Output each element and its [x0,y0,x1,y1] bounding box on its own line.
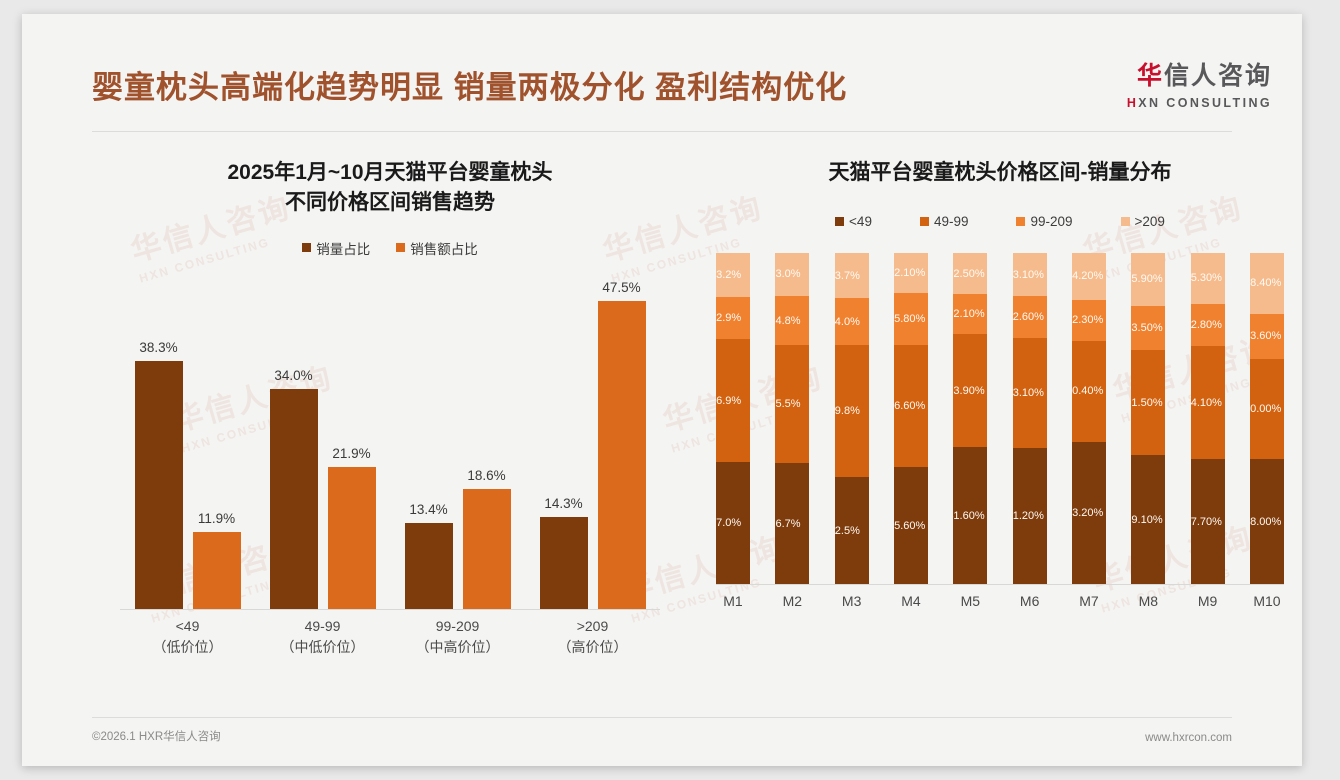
bar-value-label: 34.0% [274,368,312,383]
segment-value-label: 12.10% [895,267,925,279]
segment-value-label: 38.00% [1251,516,1281,528]
bar-group: 34.0%21.9% [258,272,388,610]
stacked-bar-segment[interactable]: 37.70% [1191,459,1225,584]
x-axis-category-sublabel: （中低价位） [258,637,388,658]
segment-value-label: 36.7% [776,518,800,530]
stacked-bar-column[interactable]: 13.10%12.60%33.10%41.20% [1013,253,1047,585]
segment-value-label: 32.5% [836,525,860,537]
segment-value-label: 31.50% [1132,397,1162,409]
slide-canvas: 华信人咨询HXN CONSULTING 华信人咨询HXN CONSULTING … [22,14,1302,766]
segment-value-label: 35.5% [776,398,800,410]
stacked-bar-segment[interactable]: 14.0% [835,298,869,344]
bar-rect[interactable] [270,389,318,610]
segment-value-label: 41.60% [954,510,984,522]
segment-value-label: 12.10% [954,308,984,320]
x-axis-month-label: M1 [716,585,750,637]
stacked-bar-segment[interactable]: 39.8% [835,345,869,477]
stacked-bar-segment[interactable]: 13.7% [835,253,869,298]
segment-value-label: 39.8% [836,405,860,417]
segment-value-label: 37.70% [1192,516,1222,528]
segment-value-label: 14.8% [776,315,800,327]
left-chart-legend: 销量占比销售额占比 [80,238,700,258]
stacked-bar-column[interactable]: 13.0%14.8%35.5%36.7% [775,253,809,585]
grouped-bar-chart: 38.3%11.9%34.0%21.9%13.4%18.6%14.3%47.5%… [110,272,670,662]
stacked-bar-segment[interactable]: 14.20% [1072,253,1106,300]
x-axis-category-label: >209（高价位） [528,610,658,662]
stacked-bar-column[interactable]: 12.50%12.10%33.90%41.60% [953,253,987,585]
x-axis-category-name: 49-99 [258,616,388,637]
bar-rect[interactable] [598,301,646,610]
stacked-bar-column[interactable]: 12.10%15.80%36.60%35.60% [894,253,928,585]
bar-column[interactable]: 14.3% [540,272,588,610]
left-chart-panel: 2025年1月~10月天猫平台婴童枕头 不同价格区间销售趋势 销量占比销售额占比… [80,144,700,704]
stacked-bar-segment[interactable]: 30.40% [1072,341,1106,442]
bar-column[interactable]: 47.5% [598,272,646,610]
stacked-bar-segment[interactable]: 33.90% [953,334,987,446]
page-title: 婴童枕头高端化趋势明显 销量两极分化 盈利结构优化 [92,62,847,107]
x-axis-month-label: M2 [775,585,809,637]
left-chart-title-line1: 2025年1月~10月天猫平台婴童枕头 [80,158,700,188]
segment-value-label: 39.10% [1132,514,1162,526]
legend-label: <49 [849,214,872,229]
bar-column[interactable]: 34.0% [270,272,318,610]
bar-value-label: 13.4% [409,502,447,517]
bar-value-label: 18.6% [467,468,505,483]
right-chart-title: 天猫平台婴童枕头价格区间-销量分布 [700,144,1300,188]
bar-column[interactable]: 18.6% [463,272,511,610]
bar-value-label: 47.5% [602,280,640,295]
stacked-bar-segment[interactable]: 36.60% [894,345,928,466]
stacked-bar-segment[interactable]: 12.9% [716,297,750,340]
segment-value-label: 37.0% [717,517,741,529]
stacked-bar-segment[interactable]: 35.60% [894,467,928,585]
segment-value-label: 35.60% [895,520,925,532]
segment-value-label: 13.50% [1132,322,1162,334]
footer-divider [92,717,1232,718]
segment-value-label: 33.90% [954,385,984,397]
legend-label: >209 [1135,214,1165,229]
segment-value-label: 15.80% [895,313,925,325]
segment-value-label: 13.7% [836,270,860,282]
legend-label: 49-99 [934,214,969,229]
stacked-bar-chart: 13.2%12.9%36.9%37.0%13.0%14.8%35.5%36.7%… [710,247,1290,637]
segment-value-label: 12.60% [1014,311,1044,323]
x-axis-category-sublabel: （低价位） [123,637,253,658]
stacked-bar-segment[interactable]: 12.80% [1191,304,1225,346]
stacked-bar-segment[interactable]: 43.20% [1072,442,1106,585]
bar-rect[interactable] [463,489,511,610]
stacked-bar-segment[interactable]: 15.80% [894,293,928,345]
segment-value-label: 14.20% [1073,270,1103,282]
stacked-bar-segment[interactable]: 34.10% [1191,346,1225,459]
stacked-bar-segment[interactable]: 35.5% [775,345,809,463]
stacked-bar-column[interactable]: 13.7%14.0%39.8%32.5% [835,253,869,585]
stacked-bar-column[interactable]: 14.20%12.30%30.40%43.20% [1072,253,1106,585]
segment-value-label: 12.30% [1073,314,1103,326]
left-chart-title-line2: 不同价格区间销售趋势 [80,188,700,218]
right-chart-legend: <4949-9999-209>209 [700,214,1300,229]
stacked-bar-segment[interactable]: 32.5% [835,477,869,585]
stacked-bar-segment[interactable]: 13.50% [1131,306,1165,351]
bar-value-label: 38.3% [139,340,177,355]
stacked-bar-segment[interactable]: 12.10% [953,294,987,334]
stacked-bar-segment[interactable]: 13.60% [1250,314,1284,359]
stacked-bar-segment[interactable]: 18.40% [1250,253,1284,314]
right-chart-plot-area: 13.2%12.9%36.9%37.0%13.0%14.8%35.5%36.7%… [716,253,1284,585]
x-axis-month-label: M5 [953,585,987,637]
stacked-bar-segment[interactable]: 13.10% [1013,253,1047,296]
bar-rect[interactable] [328,467,376,609]
bar-column[interactable]: 13.4% [405,272,453,610]
legend-swatch-icon [1121,217,1130,226]
segment-value-label: 13.2% [717,269,741,281]
bar-rect[interactable] [540,517,588,610]
right-chart-legend-item[interactable]: <49 [835,214,872,229]
stacked-bar-segment[interactable]: 12.10% [894,253,928,293]
segment-value-label: 36.60% [895,400,925,412]
segment-value-label: 12.9% [717,312,741,324]
segment-value-label: 36.9% [717,395,741,407]
legend-swatch-icon [302,243,311,252]
x-axis-month-label: M8 [1131,585,1165,637]
legend-label: 销量占比 [316,238,370,258]
bar-column[interactable]: 11.9% [193,272,241,610]
bar-value-label: 21.9% [332,446,370,461]
x-axis-month-label: M10 [1250,585,1284,637]
stacked-bar-segment[interactable]: 41.20% [1013,448,1047,585]
right-chart-x-labels: M1M2M3M4M5M6M7M8M9M10 [716,585,1284,637]
stacked-bar-segment[interactable]: 13.0% [775,253,809,296]
segment-value-label: 18.40% [1251,277,1281,289]
x-axis-category-sublabel: （中高价位） [393,637,523,658]
left-chart-legend-item[interactable]: 销量占比 [302,238,370,258]
legend-swatch-icon [835,217,844,226]
stacked-bar-segment[interactable]: 39.10% [1131,455,1165,585]
segment-value-label: 30.40% [1073,385,1103,397]
bar-value-label: 11.9% [198,511,235,526]
legend-label: 99-209 [1030,214,1072,229]
segment-value-label: 14.0% [836,316,860,328]
right-chart-legend-item[interactable]: 99-209 [1016,214,1072,229]
header-divider [92,131,1232,132]
segment-value-label: 15.30% [1192,272,1222,284]
x-axis-category-label: 49-99（中低价位） [258,610,388,662]
logo-en-accent: H [1127,96,1138,110]
bar-group: 14.3%47.5% [528,272,658,610]
right-chart-legend-item[interactable]: 49-99 [920,214,969,229]
right-chart-legend-item[interactable]: >209 [1121,214,1165,229]
left-chart-legend-item[interactable]: 销售额占比 [396,238,478,258]
segment-value-label: 30.00% [1251,403,1281,415]
segment-value-label: 41.20% [1014,510,1044,522]
segment-value-label: 13.0% [776,268,800,280]
bar-column[interactable]: 38.3% [135,272,183,610]
legend-swatch-icon [1016,217,1025,226]
legend-swatch-icon [396,243,405,252]
stacked-bar-segment[interactable]: 37.0% [716,462,750,585]
logo-english-name: HXN CONSULTING [1127,96,1272,110]
x-axis-month-label: M3 [835,585,869,637]
x-axis-month-label: M4 [894,585,928,637]
stacked-bar-segment[interactable]: 36.7% [775,463,809,585]
x-axis-category-sublabel: （高价位） [528,637,658,658]
right-chart-panel: 天猫平台婴童枕头价格区间-销量分布 <4949-9999-209>209 13.… [700,144,1300,704]
segment-value-label: 33.10% [1014,387,1044,399]
stacked-bar-segment[interactable]: 15.90% [1131,253,1165,306]
logo-chinese-name: 华信人咨询 [1127,56,1272,92]
bar-rect[interactable] [193,532,241,609]
bar-group: 38.3%11.9% [123,272,253,610]
segment-value-label: 15.90% [1132,273,1162,285]
x-axis-category-name: <49 [123,616,253,637]
stacked-bar-column[interactable]: 13.2%12.9%36.9%37.0% [716,253,750,585]
segment-value-label: 34.10% [1192,397,1222,409]
left-chart-x-labels: <49（低价位）49-99（中低价位）99-209（中高价位）>209（高价位） [120,610,660,662]
left-chart-plot-area: 38.3%11.9%34.0%21.9%13.4%18.6%14.3%47.5% [120,272,660,610]
stacked-bar-segment[interactable]: 30.00% [1250,359,1284,459]
stacked-bar-segment[interactable]: 33.10% [1013,338,1047,448]
footer-website: www.hxrcon.com [1145,732,1232,744]
bar-rect[interactable] [405,523,453,610]
x-axis-month-label: M7 [1072,585,1106,637]
stacked-bar-segment[interactable]: 15.30% [1191,253,1225,304]
x-axis-category-label: 99-209（中高价位） [393,610,523,662]
stacked-bar-segment[interactable]: 12.50% [953,253,987,294]
x-axis-category-label: <49（低价位） [123,610,253,662]
x-axis-month-label: M6 [1013,585,1047,637]
stacked-bar-segment[interactable]: 41.60% [953,447,987,585]
segment-value-label: 13.60% [1251,330,1281,342]
left-chart-title: 2025年1月~10月天猫平台婴童枕头 不同价格区间销售趋势 [80,144,700,218]
logo-en-rest: XN CONSULTING [1138,96,1272,110]
segment-value-label: 43.20% [1073,507,1103,519]
x-axis-category-name: 99-209 [393,616,523,637]
segment-value-label: 13.10% [1014,269,1044,281]
stacked-bar-column[interactable]: 18.40%13.60%30.00%38.00% [1250,253,1284,585]
company-logo: 华信人咨询 HXN CONSULTING [1127,56,1272,110]
stacked-bar-segment[interactable]: 12.30% [1072,300,1106,341]
bar-column[interactable]: 21.9% [328,272,376,610]
legend-label: 销售额占比 [410,238,478,258]
bar-rect[interactable] [135,361,183,610]
bar-group: 13.4%18.6% [393,272,523,610]
stacked-bar-segment[interactable]: 38.00% [1250,459,1284,585]
stacked-bar-segment[interactable]: 13.2% [716,253,750,297]
segment-value-label: 12.50% [954,268,984,280]
slide-header: 婴童枕头高端化趋势明显 销量两极分化 盈利结构优化 华信人咨询 HXN CONS… [22,14,1302,118]
x-axis-category-name: >209 [528,616,658,637]
stacked-bar-segment[interactable]: 36.9% [716,339,750,462]
segment-value-label: 12.80% [1192,319,1222,331]
stacked-bar-segment[interactable]: 31.50% [1131,350,1165,455]
x-axis-month-label: M9 [1191,585,1225,637]
stacked-bar-column[interactable]: 15.30%12.80%34.10%37.70% [1191,253,1225,585]
legend-swatch-icon [920,217,929,226]
stacked-bar-segment[interactable]: 14.8% [775,296,809,345]
logo-cn-accent: 华 [1137,62,1164,90]
stacked-bar-column[interactable]: 15.90%13.50%31.50%39.10% [1131,253,1165,585]
bar-value-label: 14.3% [544,496,582,511]
stacked-bar-segment[interactable]: 12.60% [1013,296,1047,338]
footer-copyright: ©2026.1 HXR华信人咨询 [92,728,221,744]
logo-cn-rest: 信人咨询 [1164,62,1272,90]
